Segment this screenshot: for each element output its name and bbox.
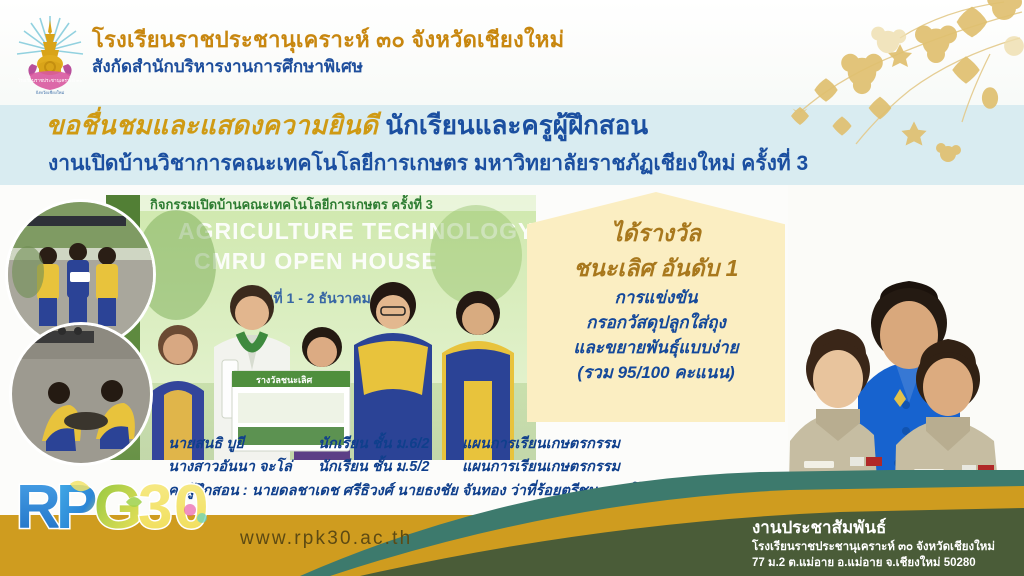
event-subtitle: งานเปิดบ้านวิชาการคณะเทคโนโลยีการเกษตร ม… [48, 147, 808, 180]
award-line-1: ได้รางวัล [527, 216, 785, 251]
rpg30-logo: R P G 3 0 [14, 470, 214, 538]
footer-pr-title: งานประชาสัมพันธ์ [752, 518, 995, 538]
award-line-6: (รวม 95/100 คะแนน) [527, 360, 785, 385]
award-line-5: และขยายพันธุ์แบบง่าย [527, 335, 785, 360]
footer-address: 77 ม.2 ต.แม่อาย อ.แม่อาย จ.เชียงใหม่ 502… [752, 556, 995, 572]
award-line-3: การแข่งขัน [527, 285, 785, 310]
congratulation-headline: ขอชื่นชมและแสดงความยินดี นักเรียนและครูผ… [46, 111, 648, 141]
svg-text:รางวัลชนะเลิศ: รางวัลชนะเลิศ [256, 375, 313, 385]
participant-row: นายสนธิ บูยีนักเรียน ชั้น ม.6/2แผนการเรี… [168, 433, 670, 456]
svg-text:กิจกรรมเปิดบ้านคณะเทคโนโลยีการ: กิจกรรมเปิดบ้านคณะเทคโนโลยีการเกษตร ครั้… [150, 195, 433, 212]
svg-text:CMRU OPEN HOUSE: CMRU OPEN HOUSE [194, 248, 438, 274]
award-line-4: กรอกวัสดุปลูกใส่ถุง [527, 310, 785, 335]
award-line-2: ชนะเลิศ อันดับ 1 [527, 251, 785, 286]
participant-name: นายสนธิ บูยี [168, 433, 318, 456]
website-url[interactable]: www.rpk30.ac.th [240, 528, 412, 550]
headline-gold-part: ขอชื่นชมและแสดงความยินดี [46, 110, 378, 140]
svg-text:R: R [16, 473, 61, 538]
footer-contact-block: งานประชาสัมพันธ์ โรงเรียนราชประชานุเคราะ… [752, 518, 995, 571]
footer-school-name: โรงเรียนราชประชานุเคราะห์ ๓๐ จังหวัดเชีย… [752, 540, 995, 556]
title-block: ขอชื่นชมและแสดงความยินดี นักเรียนและครูผ… [0, 105, 1024, 185]
headline-blue-part: นักเรียนและครูผู้ฝึกสอน [385, 110, 648, 140]
svg-text:โรงเรียนราชประชานุเคราะห์ ๓๐: โรงเรียนราชประชานุเคราะห์ ๓๐ [18, 77, 83, 84]
footer: R P G 3 0 www.rpk30.ac.th งานประชาสัมพัน… [0, 470, 1024, 576]
award-panel: ได้รางวัล ชนะเลิศ อันดับ 1 การแข่งขัน กร… [527, 192, 785, 422]
participant-grade: นักเรียน ชั้น ม.6/2 [318, 433, 462, 456]
students-filling-pots-photo [12, 325, 150, 463]
svg-text:3: 3 [138, 473, 172, 538]
poster-root: กิจกรรมเปิดบ้านคณะเทคโนโลยีการเกษตร ครั้… [0, 0, 1024, 576]
school-affiliation: สังกัดสำนักบริหารงานการศึกษาพิเศษ [92, 56, 564, 79]
royal-emblem-icon: โรงเรียนราชประชานุเคราะห์ ๓๐ จังหวัดเชีย… [14, 12, 86, 100]
main-group-photo: กิจกรรมเปิดบ้านคณะเทคโนโลยีการเกษตร ครั้… [106, 195, 536, 460]
participant-program: แผนการเรียนเกษตรกรรม [462, 436, 620, 452]
header-text-block: โรงเรียนราชประชานุเคราะห์ ๓๐ จังหวัดเชีย… [92, 26, 564, 78]
award-group-photo: กิจกรรมเปิดบ้านคณะเทคโนโลยีการเกษตร ครั้… [106, 195, 536, 460]
school-name: โรงเรียนราชประชานุเคราะห์ ๓๐ จังหวัดเชีย… [92, 26, 564, 54]
svg-text:จังหวัดเชียงใหม่: จังหวัดเชียงใหม่ [36, 89, 65, 95]
circle-photo-bottom [12, 325, 150, 463]
